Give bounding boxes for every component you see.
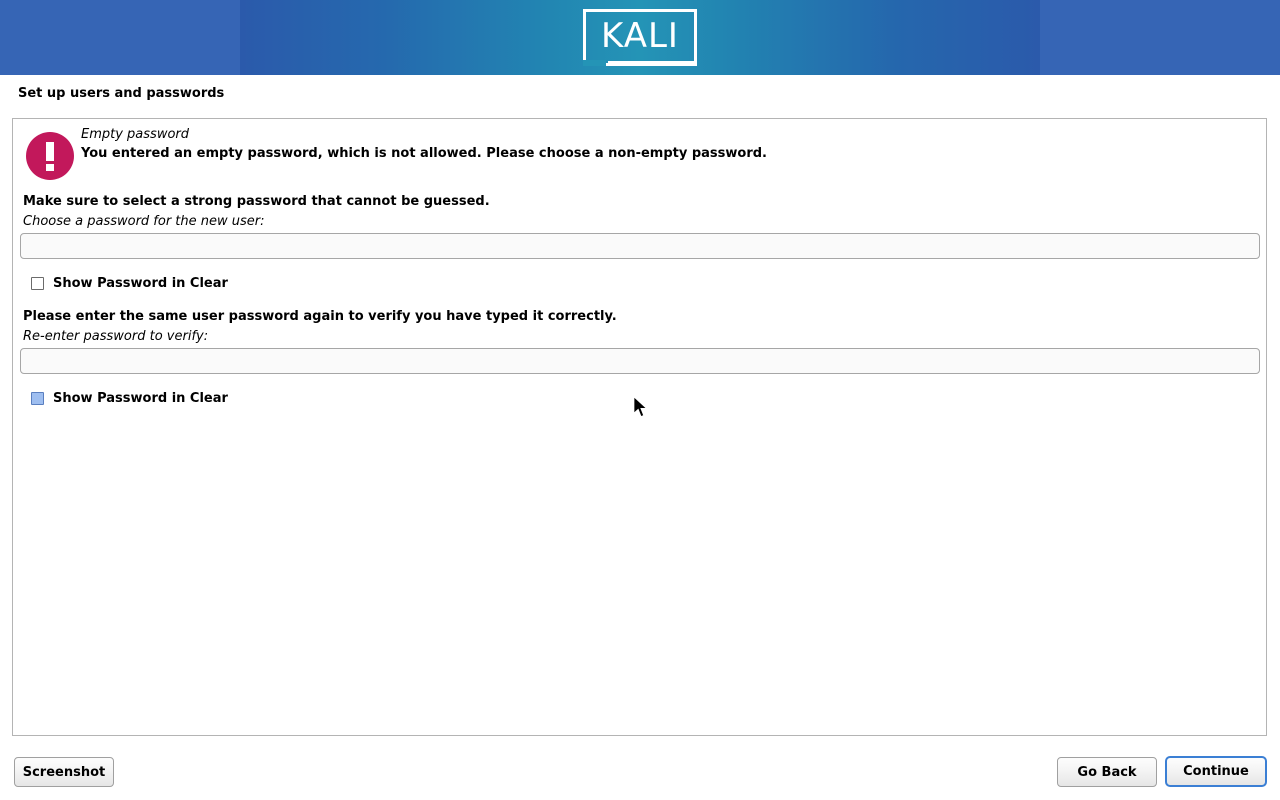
- error-title: Empty password: [81, 127, 189, 142]
- checkbox-box[interactable]: [31, 392, 44, 405]
- kali-logo: KALI: [583, 9, 697, 66]
- continue-button[interactable]: Continue: [1165, 756, 1267, 787]
- installer-header-banner: KALI: [0, 0, 1280, 75]
- screenshot-button[interactable]: Screenshot: [14, 757, 114, 787]
- verify-password-input[interactable]: [20, 348, 1260, 374]
- password-section-heading: Make sure to select a strong password th…: [23, 194, 490, 209]
- password-show-in-clear-checkbox[interactable]: Show Password in Clear: [31, 277, 228, 290]
- password-field-label: Choose a password for the new user:: [23, 214, 265, 229]
- checkbox-box[interactable]: [31, 277, 44, 290]
- verify-field-label: Re-enter password to verify:: [23, 329, 208, 344]
- password-input[interactable]: [20, 233, 1260, 259]
- error-exclamation-icon: [26, 132, 74, 180]
- checkbox-label: Show Password in Clear: [53, 277, 228, 290]
- verify-section-heading: Please enter the same user password agai…: [23, 309, 617, 324]
- exclamation-stem: [46, 142, 54, 161]
- exclamation-dot: [46, 164, 54, 171]
- checkbox-label: Show Password in Clear: [53, 392, 228, 405]
- installer-content-panel: Empty password You entered an empty pass…: [12, 118, 1267, 736]
- verify-show-in-clear-checkbox[interactable]: Show Password in Clear: [31, 392, 228, 405]
- kali-logo-text: KALI: [583, 9, 697, 66]
- error-message: You entered an empty password, which is …: [81, 146, 767, 161]
- go-back-button[interactable]: Go Back: [1057, 757, 1157, 787]
- page-title: Set up users and passwords: [18, 86, 224, 101]
